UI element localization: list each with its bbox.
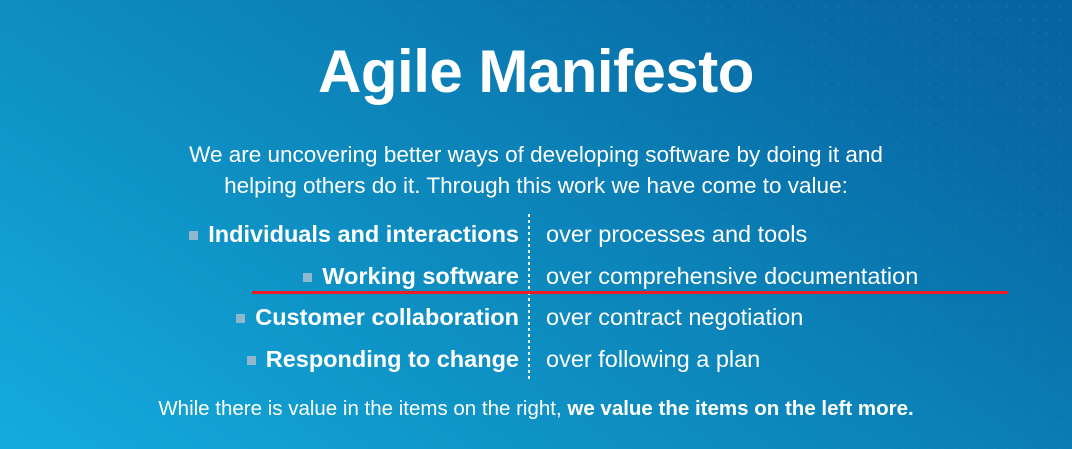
slide-content: Agile Manifesto We are uncovering better…	[0, 0, 1072, 449]
square-bullet-icon	[247, 356, 256, 365]
value-right-cell: over following a plan	[519, 346, 760, 373]
values-table: Individuals and interactions over proces…	[0, 214, 1072, 380]
square-bullet-icon	[236, 314, 245, 323]
page-title: Agile Manifesto	[0, 42, 1072, 102]
value-right-label: over processes and tools	[546, 221, 807, 247]
value-row: Customer collaboration over contract neg…	[0, 297, 1072, 339]
square-bullet-icon	[189, 231, 198, 240]
subtitle-line-2: helping others do it. Through this work …	[0, 170, 1072, 201]
value-left-cell: Working software	[0, 263, 519, 290]
footer-note: While there is value in the items on the…	[0, 396, 1072, 422]
value-left-cell: Customer collaboration	[0, 304, 519, 331]
agile-manifesto-slide: Agile Manifesto We are uncovering better…	[0, 0, 1072, 449]
value-right-label: over comprehensive documentation	[546, 263, 918, 289]
subtitle: We are uncovering better ways of develop…	[0, 139, 1072, 201]
highlight-underline	[252, 291, 1008, 294]
value-left-cell: Responding to change	[0, 346, 519, 373]
value-left-label: Individuals and interactions	[208, 221, 519, 248]
value-row: Individuals and interactions over proces…	[0, 214, 1072, 256]
value-right-cell: over comprehensive documentation	[519, 263, 918, 290]
footer-regular-text: While there is value in the items on the…	[158, 397, 567, 420]
value-left-label: Working software	[322, 263, 519, 290]
value-right-cell: over contract negotiation	[519, 304, 803, 331]
value-left-label: Responding to change	[266, 346, 519, 373]
footer-bold-text: we value the items on the left more.	[567, 397, 913, 420]
value-right-label: over following a plan	[546, 346, 760, 372]
value-left-cell: Individuals and interactions	[0, 221, 519, 248]
square-bullet-icon	[303, 273, 312, 282]
subtitle-line-1: We are uncovering better ways of develop…	[0, 139, 1072, 170]
value-right-cell: over processes and tools	[519, 221, 807, 248]
value-row: Responding to change over following a pl…	[0, 339, 1072, 381]
value-left-label: Customer collaboration	[255, 304, 519, 331]
value-right-label: over contract negotiation	[546, 304, 803, 330]
